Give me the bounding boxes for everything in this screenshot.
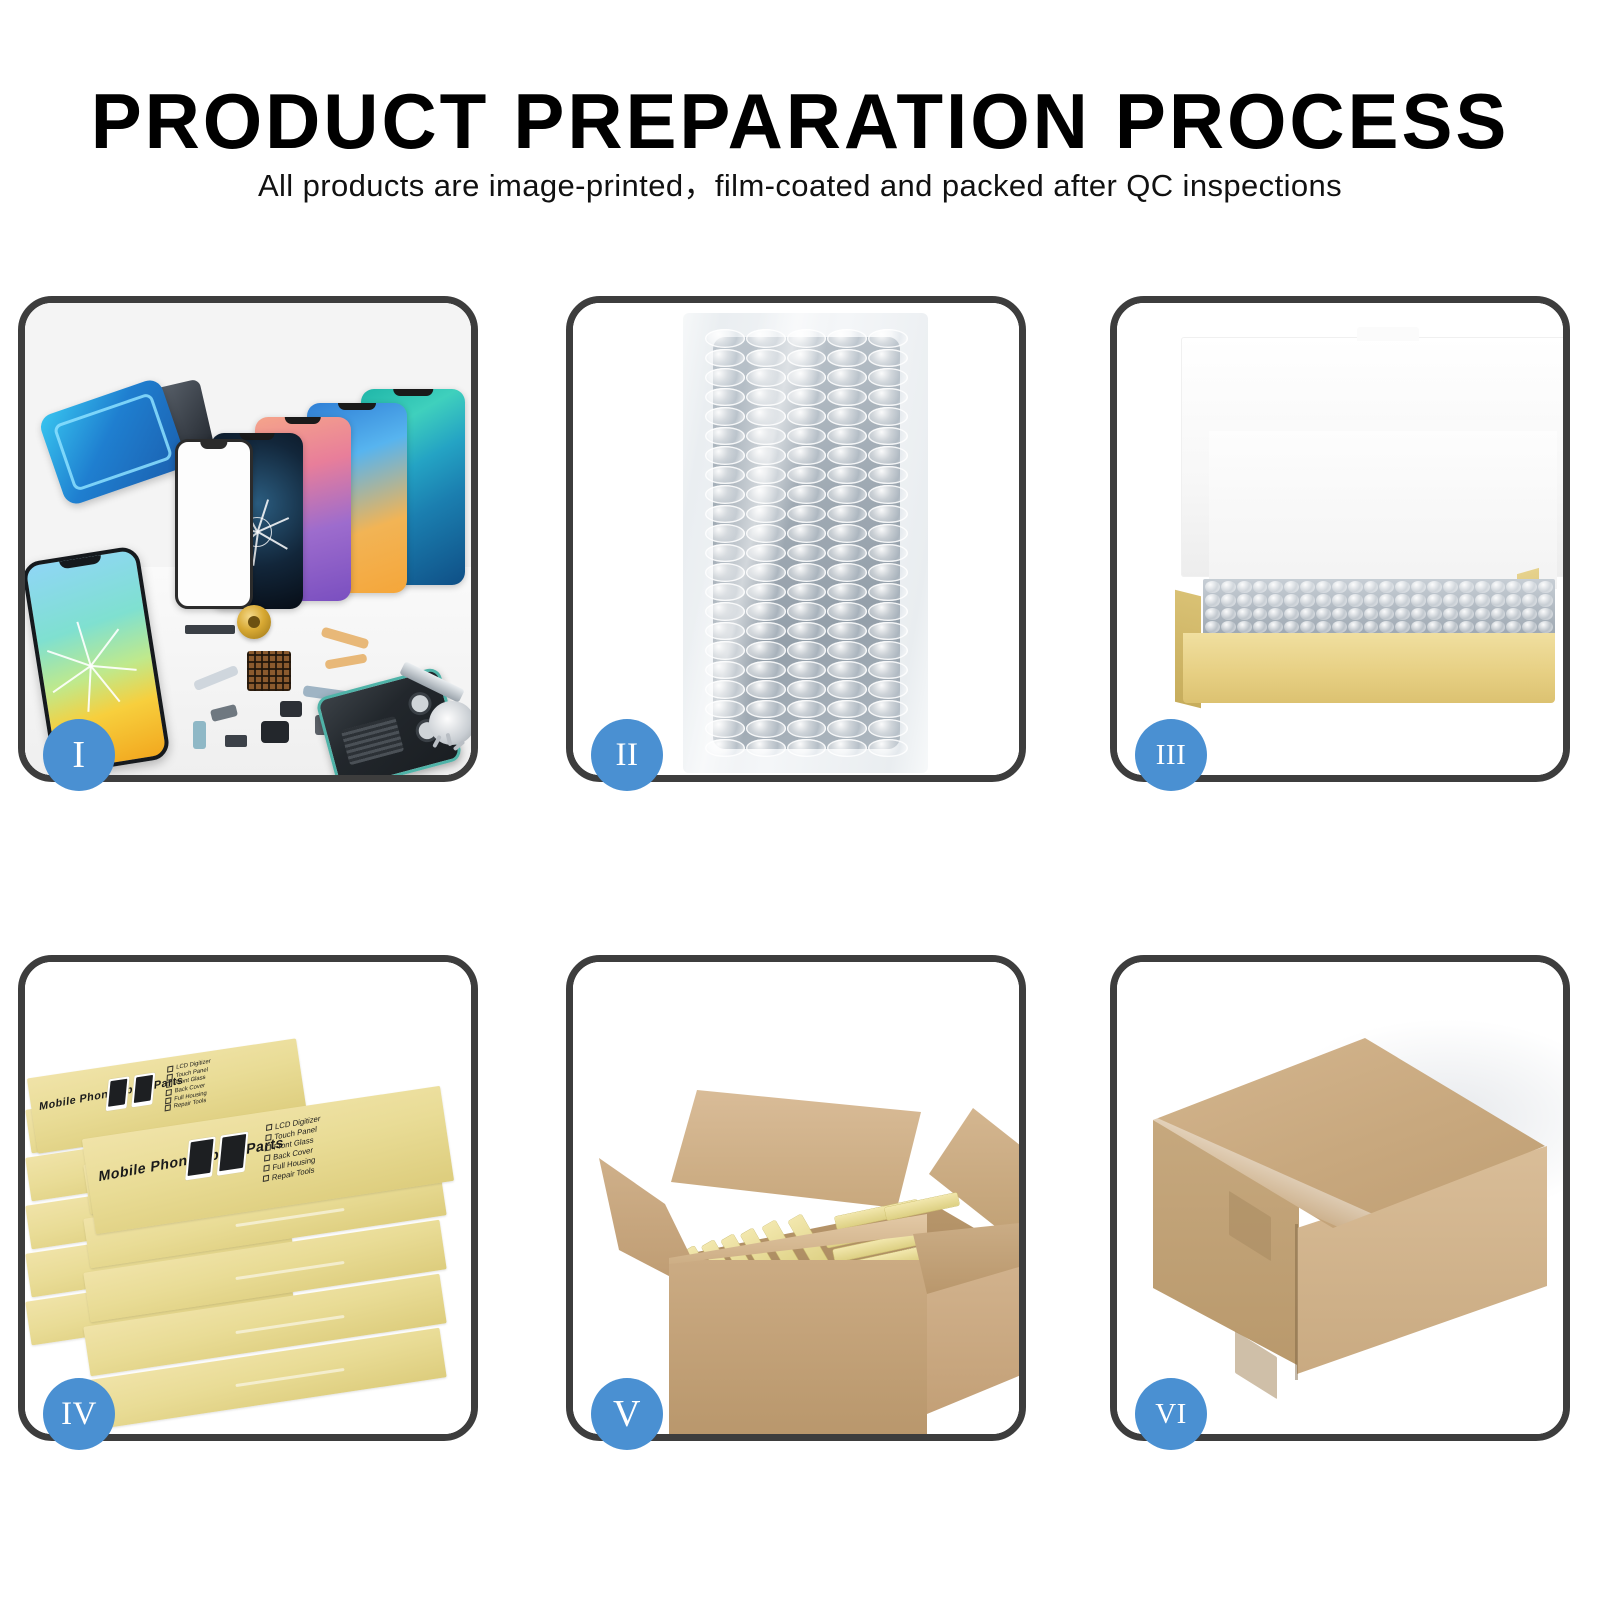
bubble xyxy=(787,739,827,758)
bubble xyxy=(787,563,827,582)
bubble xyxy=(1411,594,1426,606)
bubble xyxy=(827,466,867,485)
bubble xyxy=(1459,621,1474,633)
bubble xyxy=(1205,594,1220,606)
bubble xyxy=(746,583,786,602)
bubble xyxy=(1237,621,1252,633)
wireless-charging-coil-part xyxy=(237,605,271,639)
bubble xyxy=(1300,608,1315,620)
bubble xyxy=(1475,594,1490,606)
bubble xyxy=(827,661,867,680)
bubble xyxy=(868,485,908,504)
bubble xyxy=(1253,594,1268,606)
bubble xyxy=(868,349,908,368)
bubble xyxy=(787,485,827,504)
bubble xyxy=(787,466,827,485)
gold-box-stack: Mobile Phone Spare PartsLCD DigitizerTou… xyxy=(25,962,471,1434)
retail-box-checklist: LCD DigitizerTouch PanelFront GlassBack … xyxy=(164,1058,210,1113)
bubble xyxy=(705,329,745,348)
bubble xyxy=(1253,621,1268,633)
bubble xyxy=(787,524,827,543)
step-badge-3: III xyxy=(1135,719,1207,791)
phone-parts-scene xyxy=(25,303,471,775)
bubble xyxy=(1316,581,1331,593)
bubble xyxy=(746,505,786,524)
bubble xyxy=(1443,594,1458,606)
battery-part xyxy=(341,716,404,765)
bubble xyxy=(868,700,908,719)
bubble xyxy=(746,466,786,485)
bubble xyxy=(1316,621,1331,633)
step-badge-5: V xyxy=(591,1378,663,1450)
bubble xyxy=(705,407,745,426)
bubble xyxy=(705,739,745,758)
step-panel-2: II xyxy=(566,296,1026,782)
bubble xyxy=(1475,621,1490,633)
bubble xyxy=(1253,608,1268,620)
bubble xyxy=(746,661,786,680)
bubble xyxy=(1475,608,1490,620)
bubble xyxy=(787,583,827,602)
small-chip-part xyxy=(225,735,247,747)
bubble xyxy=(746,544,786,563)
bubble xyxy=(1221,594,1236,606)
process-steps-grid: I II xyxy=(0,0,1600,1600)
bubble xyxy=(1395,621,1410,633)
carton-front-face xyxy=(669,1260,927,1434)
bubble xyxy=(1268,581,1283,593)
bubble xyxy=(1237,594,1252,606)
bubble xyxy=(1395,594,1410,606)
bubble xyxy=(787,544,827,563)
bubble xyxy=(1459,581,1474,593)
bubble xyxy=(868,368,908,387)
bubble xyxy=(868,505,908,524)
checkbox-icon xyxy=(165,1089,171,1096)
step-panel-5: V xyxy=(566,955,1026,1441)
bubble xyxy=(705,388,745,407)
camera-lens-part xyxy=(410,693,431,714)
bubble xyxy=(1395,581,1410,593)
bubble xyxy=(1475,581,1490,593)
product-photo xyxy=(131,1072,155,1107)
step-image-4: Mobile Phone Spare PartsLCD DigitizerTou… xyxy=(25,962,471,1434)
bubble xyxy=(705,466,745,485)
sim-tray-part xyxy=(193,721,206,749)
bubble xyxy=(787,602,827,621)
bubble-wrapped-product xyxy=(1203,579,1555,635)
bubble xyxy=(746,368,786,387)
bubble xyxy=(868,427,908,446)
bubble xyxy=(1522,594,1537,606)
bubble xyxy=(1253,581,1268,593)
bubble xyxy=(705,622,745,641)
camera-module-part xyxy=(261,721,289,743)
bubble xyxy=(1364,581,1379,593)
bubble xyxy=(827,524,867,543)
bubble xyxy=(1205,621,1220,633)
bubble xyxy=(746,680,786,699)
screws-part xyxy=(435,733,469,755)
bubble xyxy=(1332,594,1347,606)
bubble xyxy=(1284,594,1299,606)
bubble xyxy=(1268,594,1283,606)
bubble xyxy=(827,329,867,348)
retail-box-checklist: LCD DigitizerTouch PanelFront GlassBack … xyxy=(262,1112,320,1184)
bubble-grid xyxy=(1205,581,1553,633)
product-photo xyxy=(105,1076,129,1111)
camera-module-part xyxy=(280,701,302,717)
bubble xyxy=(705,544,745,563)
bubble xyxy=(827,485,867,504)
bubble xyxy=(787,680,827,699)
bubble xyxy=(868,524,908,543)
bubble xyxy=(746,700,786,719)
step-image-3 xyxy=(1117,303,1563,775)
bubble xyxy=(1538,581,1553,593)
bubble xyxy=(787,329,827,348)
checkbox-icon xyxy=(264,1154,270,1161)
bubble xyxy=(1538,621,1553,633)
bubble xyxy=(827,446,867,465)
bubble xyxy=(1522,608,1537,620)
bubble xyxy=(1427,581,1442,593)
bubble xyxy=(705,563,745,582)
bubble xyxy=(746,602,786,621)
bubble xyxy=(868,583,908,602)
bubble xyxy=(746,329,786,348)
bubble xyxy=(1379,594,1394,606)
bubble xyxy=(1284,581,1299,593)
bubble xyxy=(827,544,867,563)
bubble xyxy=(868,661,908,680)
bubble xyxy=(868,563,908,582)
bubble xyxy=(1268,621,1283,633)
step-panel-6: VI xyxy=(1110,955,1570,1441)
bubble xyxy=(1491,581,1506,593)
ic-chip-part xyxy=(247,651,291,691)
box-interior xyxy=(1209,431,1557,589)
bubble xyxy=(1411,621,1426,633)
bubble xyxy=(1221,581,1236,593)
bubble xyxy=(1284,621,1299,633)
bubble xyxy=(1522,621,1537,633)
bubble xyxy=(1364,608,1379,620)
crack-pattern-icon xyxy=(39,614,142,717)
step-image-6 xyxy=(1117,962,1563,1434)
step-badge-1: I xyxy=(43,719,115,791)
bubble xyxy=(705,680,745,699)
bubble xyxy=(827,563,867,582)
bubble xyxy=(746,485,786,504)
bubble xyxy=(868,602,908,621)
checkbox-icon xyxy=(266,1123,272,1130)
bubble xyxy=(1443,581,1458,593)
bubble xyxy=(787,427,827,446)
adhesive-frame-part xyxy=(37,377,189,508)
bubble xyxy=(1348,621,1363,633)
bubble xyxy=(1427,621,1442,633)
bubble xyxy=(746,719,786,738)
bubble xyxy=(787,407,827,426)
bubble xyxy=(1348,608,1363,620)
bubble xyxy=(787,700,827,719)
bubble xyxy=(705,524,745,543)
bubble xyxy=(827,407,867,426)
bubble xyxy=(705,368,745,387)
bubble xyxy=(1427,594,1442,606)
bubble xyxy=(1395,608,1410,620)
bubble xyxy=(1268,608,1283,620)
bubble-grid xyxy=(705,329,908,757)
bubble xyxy=(746,427,786,446)
bubble xyxy=(827,700,867,719)
bubble-wrap-scene xyxy=(573,303,1019,775)
step-badge-2: II xyxy=(591,719,663,791)
bubble xyxy=(1522,581,1537,593)
bubble xyxy=(1348,594,1363,606)
checkbox-icon xyxy=(166,1081,172,1088)
bubble xyxy=(705,427,745,446)
bubble xyxy=(827,680,867,699)
bubble xyxy=(746,524,786,543)
sealed-carton-scene xyxy=(1117,962,1563,1434)
bubble xyxy=(1364,594,1379,606)
bubble xyxy=(1411,608,1426,620)
bubble xyxy=(1506,581,1521,593)
bubble xyxy=(868,641,908,660)
bubble xyxy=(705,700,745,719)
bubble xyxy=(787,661,827,680)
bubble xyxy=(705,446,745,465)
bubble xyxy=(705,641,745,660)
bubble xyxy=(1300,581,1315,593)
retail-box-product-photos xyxy=(185,1131,248,1179)
bubble xyxy=(827,602,867,621)
bubble xyxy=(1348,581,1363,593)
bubble xyxy=(1538,608,1553,620)
bubble xyxy=(746,349,786,368)
bubble xyxy=(1316,608,1331,620)
bubble xyxy=(705,602,745,621)
bubble xyxy=(787,388,827,407)
bubble xyxy=(868,446,908,465)
step-image-2 xyxy=(573,303,1019,775)
bubble xyxy=(1459,608,1474,620)
bubble xyxy=(827,427,867,446)
bubble xyxy=(1300,594,1315,606)
bubble xyxy=(1237,608,1252,620)
step-panel-4: Mobile Phone Spare PartsLCD DigitizerTou… xyxy=(18,955,478,1441)
bubble xyxy=(787,446,827,465)
bubble xyxy=(1300,621,1315,633)
bubble xyxy=(746,446,786,465)
bubble xyxy=(1205,581,1220,593)
bubble xyxy=(1443,621,1458,633)
checkbox-icon xyxy=(164,1104,170,1111)
step-image-1 xyxy=(25,303,471,775)
bubble xyxy=(1427,608,1442,620)
bubble xyxy=(827,622,867,641)
box-front-wall xyxy=(1183,633,1555,703)
step-panel-1: I xyxy=(18,296,478,782)
open-carton-scene xyxy=(573,962,1019,1434)
bubble xyxy=(1443,608,1458,620)
bubble xyxy=(746,739,786,758)
bubble xyxy=(868,329,908,348)
bubble xyxy=(705,349,745,368)
phone-screen-stack xyxy=(175,389,471,604)
bubble xyxy=(787,719,827,738)
bubble xyxy=(1538,594,1553,606)
bubble xyxy=(1506,621,1521,633)
bubble xyxy=(1316,594,1331,606)
bubble xyxy=(746,563,786,582)
bubble xyxy=(1379,621,1394,633)
carton-corner-seam xyxy=(1295,1224,1298,1380)
bubble xyxy=(705,485,745,504)
bubble xyxy=(1332,621,1347,633)
bubble xyxy=(746,388,786,407)
bubble xyxy=(787,349,827,368)
checkbox-icon xyxy=(165,1097,171,1104)
bubble xyxy=(1284,608,1299,620)
bubble xyxy=(705,661,745,680)
checkbox-icon xyxy=(265,1134,271,1141)
infographic-page: PRODUCT PREPARATION PROCESS All products… xyxy=(0,0,1600,1600)
bubble xyxy=(1332,581,1347,593)
checkbox-icon xyxy=(166,1073,172,1080)
bubble xyxy=(705,505,745,524)
step-panel-3: III xyxy=(1110,296,1570,782)
step-image-5 xyxy=(573,962,1019,1434)
front-glass-panel xyxy=(175,439,253,609)
bubble xyxy=(746,407,786,426)
bubble xyxy=(1237,581,1252,593)
retail-box-product-photos xyxy=(105,1072,154,1110)
bubble xyxy=(705,583,745,602)
bubble xyxy=(1506,594,1521,606)
bubble xyxy=(746,641,786,660)
checkbox-icon xyxy=(264,1144,270,1151)
bubble xyxy=(868,622,908,641)
step-badge-6: VI xyxy=(1135,1378,1207,1450)
bubble xyxy=(827,505,867,524)
bubble xyxy=(827,641,867,660)
bubble xyxy=(1379,581,1394,593)
bubble xyxy=(1332,608,1347,620)
bubble xyxy=(1459,594,1474,606)
bubble xyxy=(868,466,908,485)
bubble xyxy=(787,622,827,641)
bubble xyxy=(787,641,827,660)
bubble xyxy=(787,505,827,524)
bubble xyxy=(787,368,827,387)
bubble xyxy=(1411,581,1426,593)
inner-box-scene xyxy=(1117,303,1563,775)
bubble xyxy=(746,622,786,641)
box-lid-tab xyxy=(1357,327,1419,341)
earpiece-speaker-part xyxy=(185,625,235,634)
bubble-wrapped-product xyxy=(683,313,928,773)
checkbox-icon xyxy=(262,1175,268,1182)
bubble xyxy=(868,739,908,758)
bubble xyxy=(1205,608,1220,620)
bubble xyxy=(1364,621,1379,633)
bubble xyxy=(827,719,867,738)
retail-box-stack-scene: Mobile Phone Spare PartsLCD DigitizerTou… xyxy=(25,962,471,1434)
bubble xyxy=(1379,608,1394,620)
bubble xyxy=(868,680,908,699)
bubble xyxy=(868,719,908,738)
bubble xyxy=(827,583,867,602)
step-badge-4: IV xyxy=(43,1378,115,1450)
bubble xyxy=(827,349,867,368)
bubble xyxy=(868,388,908,407)
checkbox-icon xyxy=(263,1164,269,1171)
bubble xyxy=(868,407,908,426)
bubble xyxy=(827,739,867,758)
product-photo xyxy=(185,1136,216,1180)
bubble xyxy=(1221,608,1236,620)
bubble xyxy=(1506,608,1521,620)
bubble xyxy=(705,719,745,738)
checkbox-icon xyxy=(167,1065,173,1072)
bubble xyxy=(1491,594,1506,606)
bubble xyxy=(1221,621,1236,633)
product-photo xyxy=(217,1131,248,1175)
bubble xyxy=(827,368,867,387)
bubble xyxy=(827,388,867,407)
bubble xyxy=(1491,621,1506,633)
bubble xyxy=(868,544,908,563)
bubble xyxy=(1491,608,1506,620)
